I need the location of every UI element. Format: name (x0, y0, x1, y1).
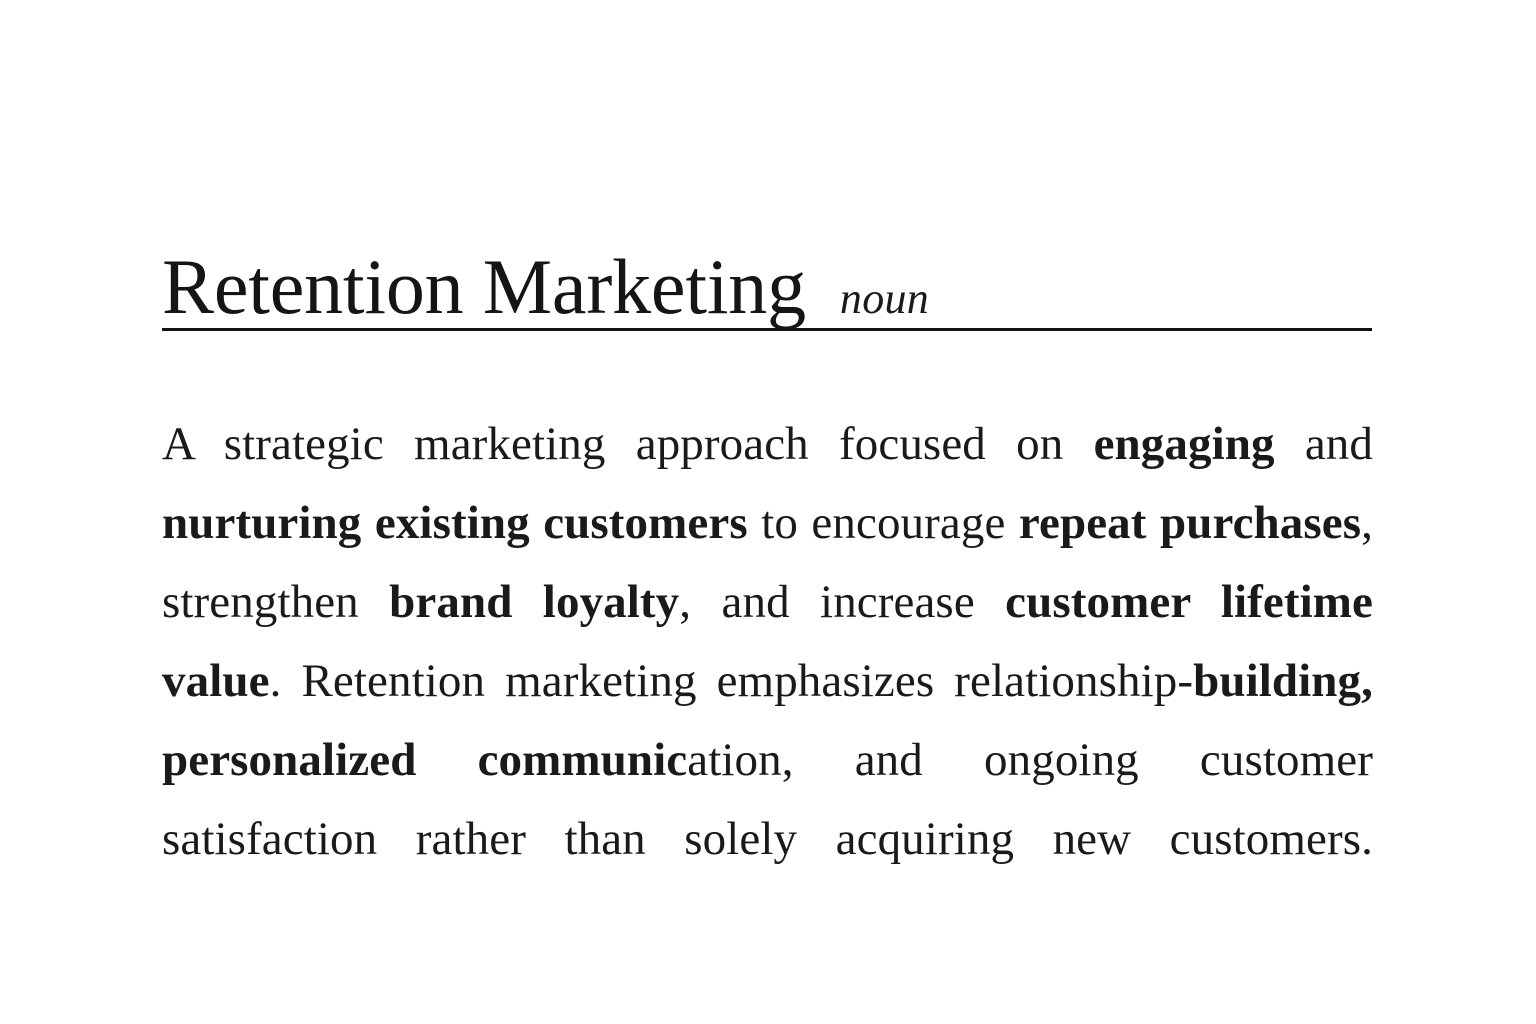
headword-row: Retention Marketing noun (162, 196, 929, 379)
definition-run: and (1275, 418, 1373, 470)
page-title: Retention Marketing (162, 248, 806, 326)
definition-emphasis: personalized communic (162, 734, 687, 786)
definition-emphasis: , (1361, 655, 1373, 707)
definition-run: . Retention marketing emphasizes relatio… (270, 655, 1194, 707)
definition-card: Retention Marketing noun A strategic mar… (162, 0, 1374, 1024)
definition-text: A strategic marketing approach focused o… (162, 405, 1373, 958)
definition-run: to encourage (748, 497, 1019, 549)
definition-emphasis: engaging (1094, 418, 1275, 470)
definition-emphasis: brand loyalty (389, 576, 679, 628)
definition-run: A strategic marketing approach focused o… (162, 418, 1094, 470)
part-of-speech-label: noun (840, 277, 929, 321)
definition-emphasis: building (1193, 655, 1361, 707)
definition-emphasis: nurturing existing customers (162, 497, 748, 549)
definition-emphasis: repeat purchases (1019, 497, 1361, 549)
title-divider (162, 328, 1372, 331)
definition-run: , and increase (679, 576, 1005, 628)
